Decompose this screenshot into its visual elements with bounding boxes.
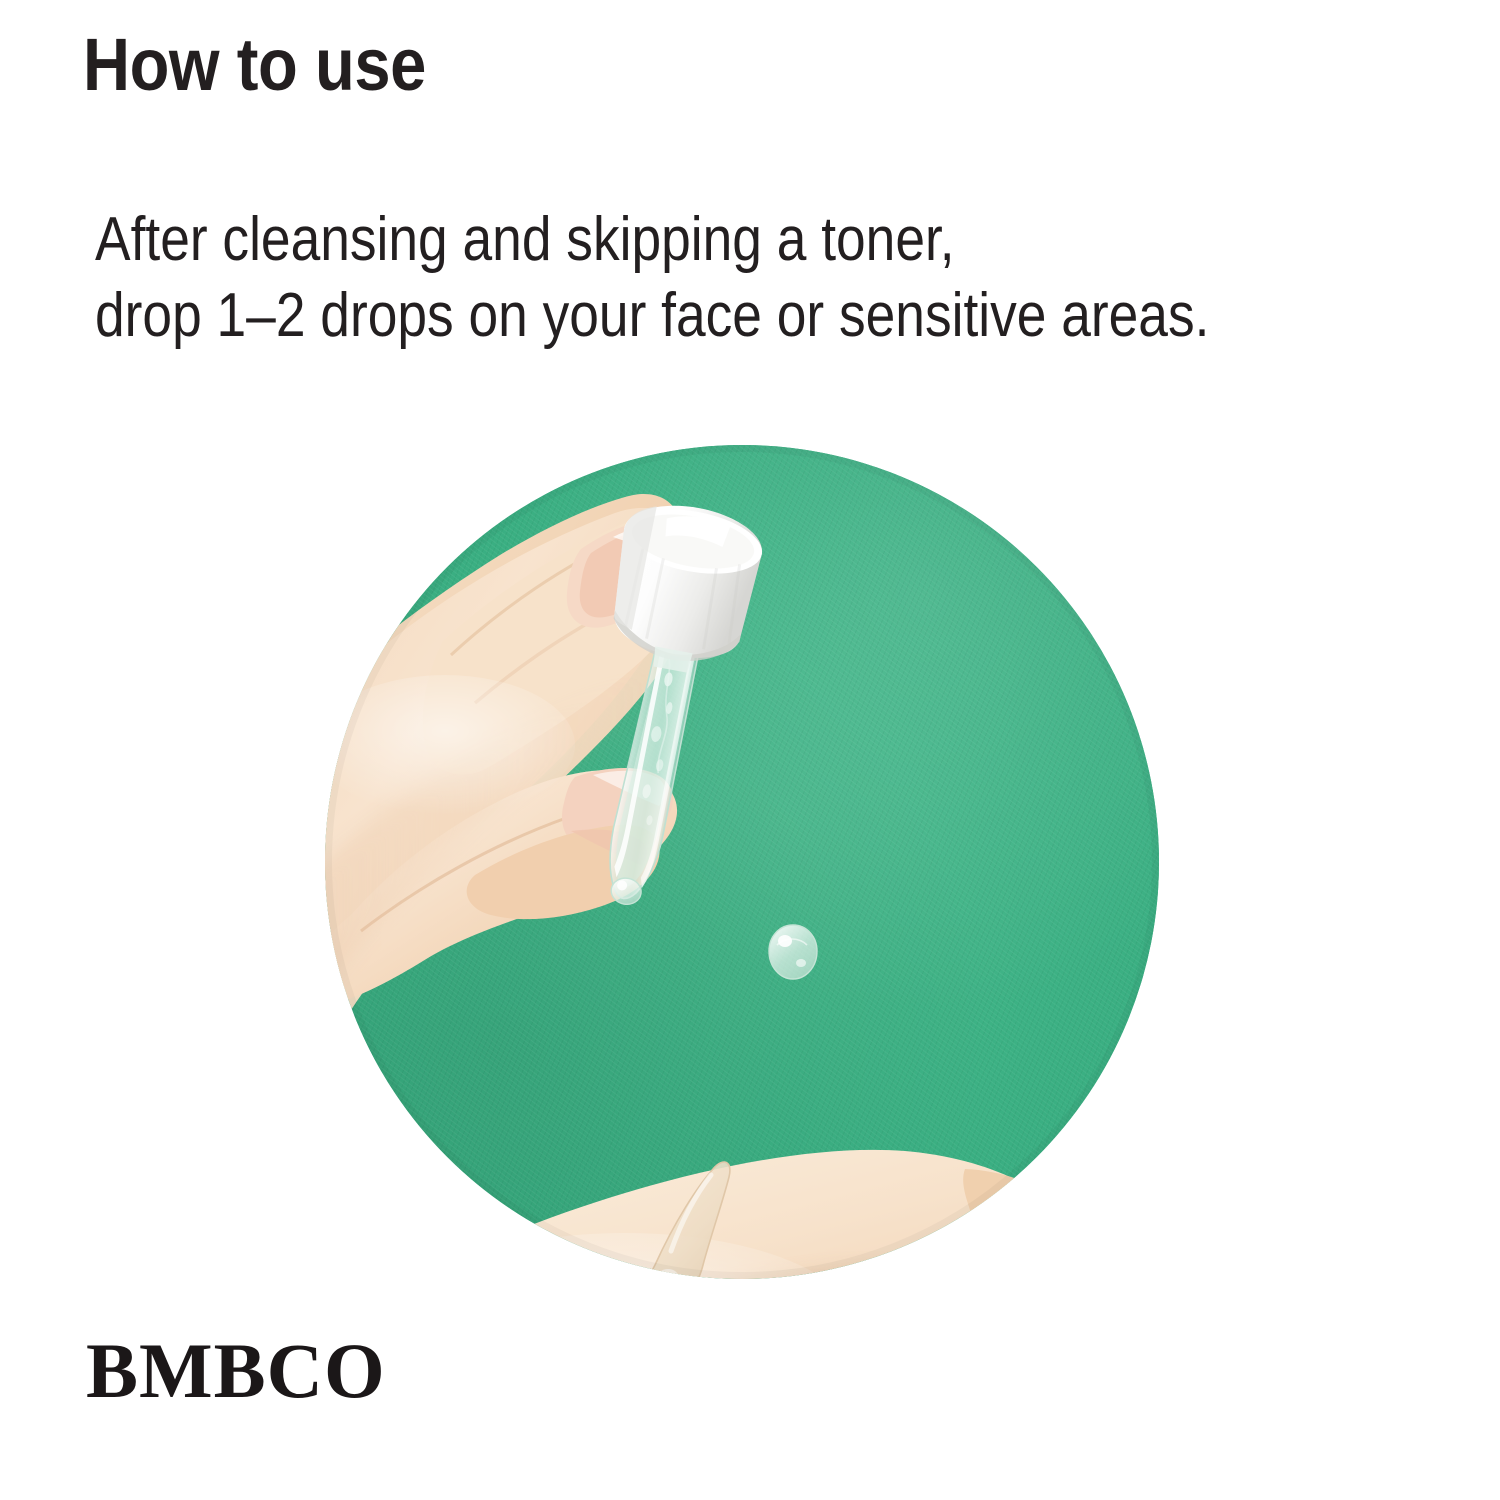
instructions-line-1: After cleansing and skipping a toner,	[95, 202, 1209, 278]
instructions-text: After cleansing and skipping a toner, dr…	[95, 202, 1209, 354]
page-title: How to use	[83, 28, 426, 102]
brand-logo: BMBCO	[86, 1332, 386, 1410]
falling-droplet	[769, 925, 817, 979]
product-usage-photo	[325, 445, 1159, 1279]
instructions-line-2: drop 1–2 drops on your face or sensitive…	[95, 278, 1209, 354]
photo-illustration	[325, 445, 1159, 1279]
page-canvas: How to use After cleansing and skipping …	[0, 0, 1500, 1500]
